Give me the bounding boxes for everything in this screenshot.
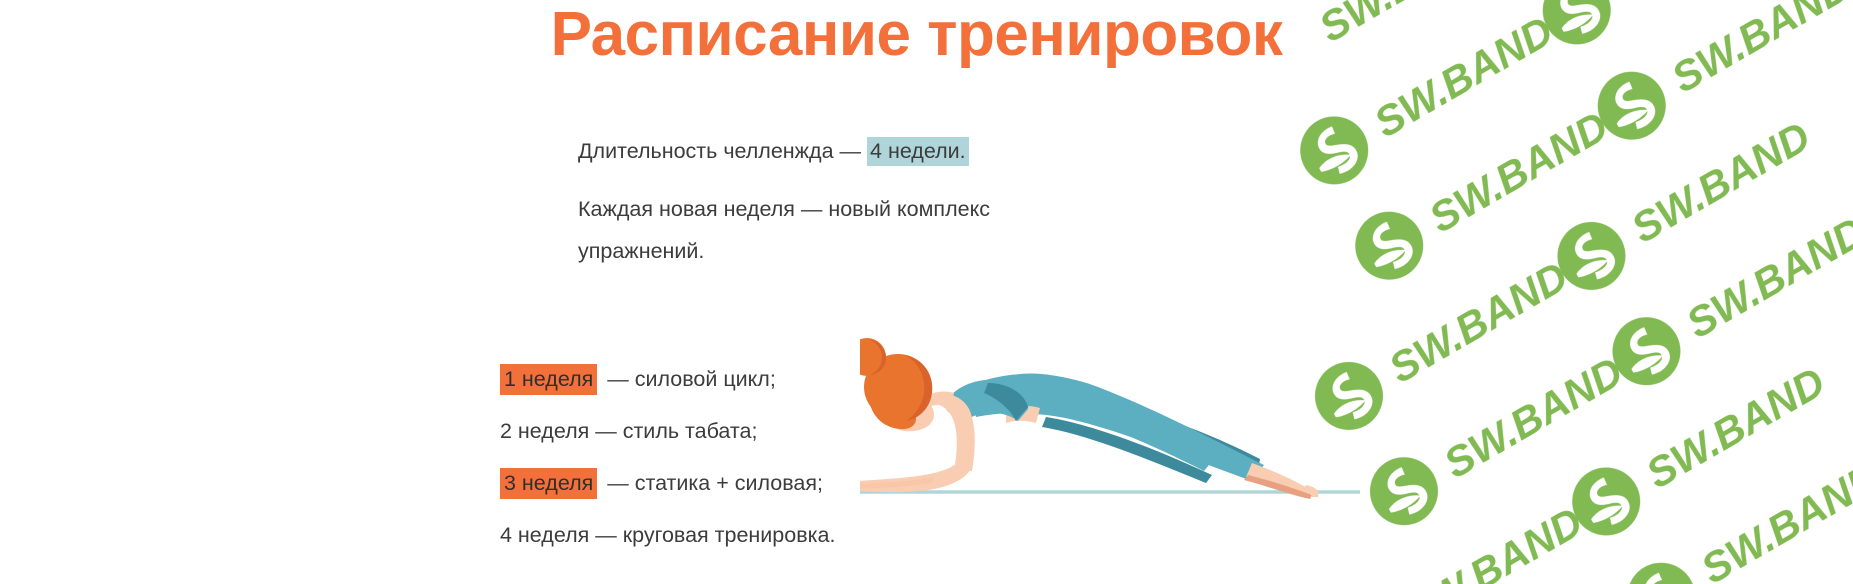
challenge-duration-prefix: Длительность челленжда — <box>578 139 867 163</box>
week-3-label: 3 неделя <box>500 468 597 499</box>
sw-logo-icon <box>1545 209 1638 302</box>
watermark-text: SW.BAND <box>1421 102 1616 241</box>
week-4-description: — круговая тренировка. <box>589 523 835 547</box>
challenge-duration-line: Длительность челленжда — 4 недели. <box>578 130 1206 172</box>
challenge-duration-highlight: 4 недели. <box>867 137 969 166</box>
sw-logo-icon <box>1600 305 1693 398</box>
weekly-complex-note: Каждая новая неделя — новый комплекс упр… <box>578 188 1083 272</box>
sw-logo-icon <box>1585 59 1678 152</box>
week-schedule-list: 1 неделя — силовой цикл; 2 неделя — стил… <box>500 353 835 561</box>
sw-logo-icon <box>1343 199 1436 292</box>
sw-logo-icon <box>1288 104 1381 197</box>
list-item: 1 неделя — силовой цикл; <box>500 353 835 405</box>
week-1-label: 1 неделя <box>500 364 597 395</box>
watermark-text: SW.BAND <box>1678 208 1853 347</box>
page-title: Расписание тренировок <box>0 2 1833 67</box>
intro-block: Длительность челленжда — 4 недели. Кажда… <box>686 130 1206 272</box>
watermark-text: SW.BAND <box>1436 348 1631 487</box>
watermark-text: SW.BAND <box>1623 112 1818 251</box>
week-2-description: — стиль табата; <box>589 419 757 443</box>
watermark-text: SW.BAND <box>1693 453 1853 584</box>
list-item: 4 неделя — круговая тренировка. <box>500 509 835 561</box>
list-item: 2 неделя — стиль табата; <box>500 405 835 457</box>
list-item: 3 неделя — статика + силовая; <box>500 457 835 509</box>
watermark-text: SW.BAND <box>1638 358 1833 497</box>
week-1-description: — силовой цикл; <box>597 367 776 391</box>
sw-logo-icon <box>1560 455 1653 548</box>
week-4-label: 4 неделя <box>500 523 589 547</box>
week-2-label: 2 неделя <box>500 419 589 443</box>
watermark-text: SW.BAND <box>1396 498 1591 584</box>
slide-canvas: Расписание тренировок Длительность челле… <box>0 0 1853 584</box>
week-3-description: — статика + силовая; <box>597 471 823 495</box>
watermark-text: SW.BAND <box>1381 252 1576 391</box>
sw-logo-icon <box>1615 550 1708 584</box>
plank-woman-illustration <box>860 325 1380 515</box>
